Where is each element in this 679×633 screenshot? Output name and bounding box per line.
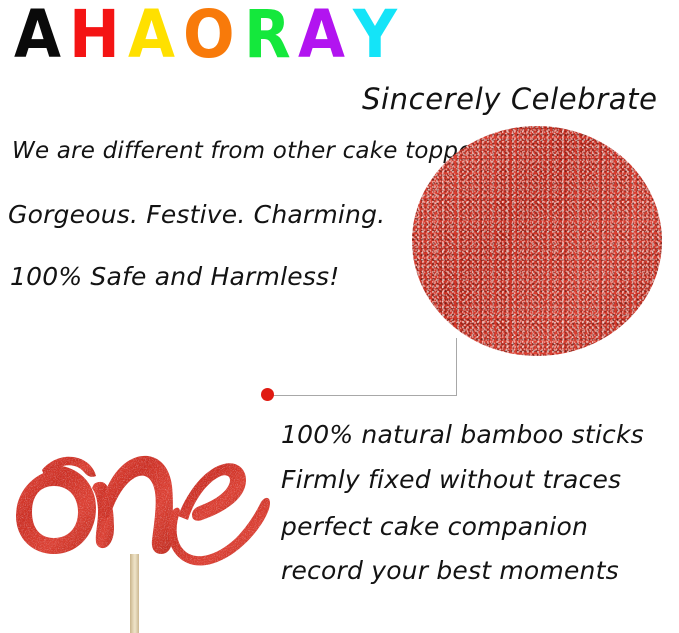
callout-line-horizontal <box>271 395 457 396</box>
callout-dot-icon <box>261 388 274 401</box>
one-script-strokes <box>16 456 270 566</box>
brand-logo: A H A O R A Y <box>14 2 405 72</box>
one-script-lettering <box>2 424 274 584</box>
detail-line-best-moments: record your best moments <box>281 556 619 585</box>
detail-line-bamboo-sticks: 100% natural bamboo sticks <box>281 420 644 449</box>
logo-letter-a-2: A <box>128 2 174 68</box>
callout-line-vertical <box>456 338 457 396</box>
detail-line-firmly-fixed: Firmly fixed without traces <box>281 465 621 494</box>
product-marketing-image: A H A O R A Y Sincerely Celebrate We are… <box>0 0 679 633</box>
cake-topper-product <box>2 424 274 633</box>
red-glitter-material-swatch <box>412 126 662 356</box>
logo-letter-a-3: A <box>298 2 344 68</box>
logo-letter-h: H <box>69 2 119 68</box>
feature-line-differentiation: We are different from other cake topper <box>12 138 482 164</box>
logo-letter-r: R <box>244 2 290 68</box>
logo-letter-o: O <box>183 2 234 68</box>
logo-letter-a-1: A <box>14 2 60 68</box>
detail-line-cake-companion: perfect cake companion <box>281 512 588 541</box>
feature-line-adjectives: Gorgeous. Festive. Charming. <box>8 200 385 229</box>
headline-sincerely-celebrate: Sincerely Celebrate <box>362 82 658 116</box>
feature-line-safety: 100% Safe and Harmless! <box>10 262 339 291</box>
logo-letter-y: Y <box>353 2 396 68</box>
